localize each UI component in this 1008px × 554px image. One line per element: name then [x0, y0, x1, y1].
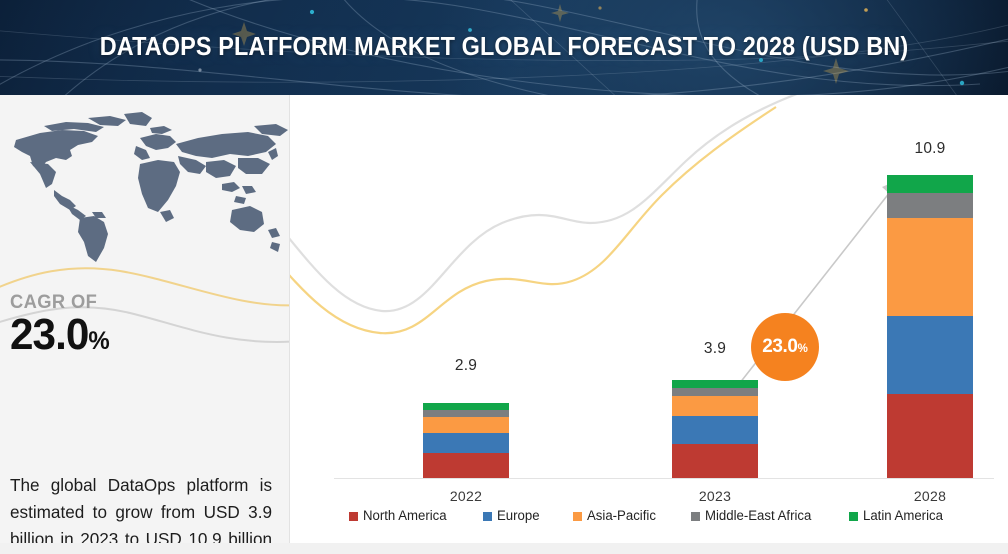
chart-legend: North America Europe Asia-Pacific Middle…	[290, 503, 1008, 529]
summary-description: The global DataOps platform is estimated…	[10, 472, 272, 554]
segment-asia-pacific-2028[interactable]	[887, 218, 973, 316]
segment-north-america-2028[interactable]	[887, 394, 973, 478]
segment-middle-east-africa-2022[interactable]	[423, 410, 509, 417]
x-axis-tick-2023: 2023	[650, 488, 780, 504]
cagr-badge[interactable]: 23.0%	[751, 313, 819, 381]
chart-area: 2.9 2022 3.9 2023 10.9 2028	[290, 95, 1008, 554]
segment-latin-america-2023[interactable]	[672, 380, 758, 388]
legend-label-europe: Europe	[497, 508, 540, 524]
segment-latin-america-2022[interactable]	[423, 403, 509, 410]
cagr-summary: CAGR OF 23.0%	[10, 291, 285, 358]
cagr-value: 23.0	[10, 310, 88, 359]
header-banner: DATAOPS PLATFORM MARKET GLOBAL FORECAST …	[0, 0, 1008, 95]
segment-latin-america-2028[interactable]	[887, 175, 973, 193]
legend-label-north-america: North America	[363, 508, 447, 524]
page-title: DATAOPS PLATFORM MARKET GLOBAL FORECAST …	[40, 0, 967, 95]
legend-swatch-europe	[483, 512, 492, 521]
bar-total-label-2022: 2.9	[401, 357, 531, 375]
stacked-bar-2023[interactable]	[672, 380, 758, 478]
infographic-page: DATAOPS PLATFORM MARKET GLOBAL FORECAST …	[0, 0, 1008, 554]
segment-asia-pacific-2022[interactable]	[423, 417, 509, 433]
legend-item-north-america[interactable]: North America	[349, 508, 453, 524]
segment-europe-2023[interactable]	[672, 416, 758, 444]
legend-swatch-asia-pacific	[573, 512, 582, 521]
cagr-badge-value: 23.0	[762, 336, 797, 358]
cagr-percent-symbol: %	[88, 327, 109, 355]
cagr-value-wrap: 23.0%	[10, 312, 274, 358]
segment-north-america-2022[interactable]	[423, 453, 509, 478]
legend-item-asia-pacific[interactable]: Asia-Pacific	[573, 508, 661, 524]
bar-total-label-2028: 10.9	[865, 140, 995, 158]
legend-item-latin-america[interactable]: Latin America	[849, 508, 949, 524]
legend-swatch-latin-america	[849, 512, 858, 521]
segment-middle-east-africa-2028[interactable]	[887, 193, 973, 218]
segment-europe-2022[interactable]	[423, 433, 509, 453]
segment-north-america-2023[interactable]	[672, 444, 758, 478]
stacked-bar-2028[interactable]	[887, 175, 973, 478]
world-map-icon	[0, 100, 290, 285]
stacked-bar-2022[interactable]	[423, 403, 509, 478]
world-map-graphic	[0, 100, 290, 285]
legend-label-asia-pacific: Asia-Pacific	[587, 508, 656, 524]
legend-swatch-middle-east-africa	[691, 512, 700, 521]
legend-swatch-north-america	[349, 512, 358, 521]
segment-europe-2028[interactable]	[887, 316, 973, 394]
segment-asia-pacific-2023[interactable]	[672, 396, 758, 416]
x-axis-tick-2022: 2022	[401, 488, 531, 504]
segment-middle-east-africa-2023[interactable]	[672, 388, 758, 396]
left-summary-panel: CAGR OF 23.0% The global DataOps platfor…	[0, 95, 290, 554]
legend-label-middle-east-africa: Middle-East Africa	[705, 508, 811, 524]
bottom-strip	[0, 543, 1008, 554]
x-axis-line	[334, 478, 994, 479]
legend-label-latin-america: Latin America	[863, 508, 943, 524]
legend-item-middle-east-africa[interactable]: Middle-East Africa	[691, 508, 819, 524]
legend-item-europe[interactable]: Europe	[483, 508, 543, 524]
cagr-badge-percent: %	[798, 339, 808, 355]
x-axis-tick-2028: 2028	[865, 488, 995, 504]
